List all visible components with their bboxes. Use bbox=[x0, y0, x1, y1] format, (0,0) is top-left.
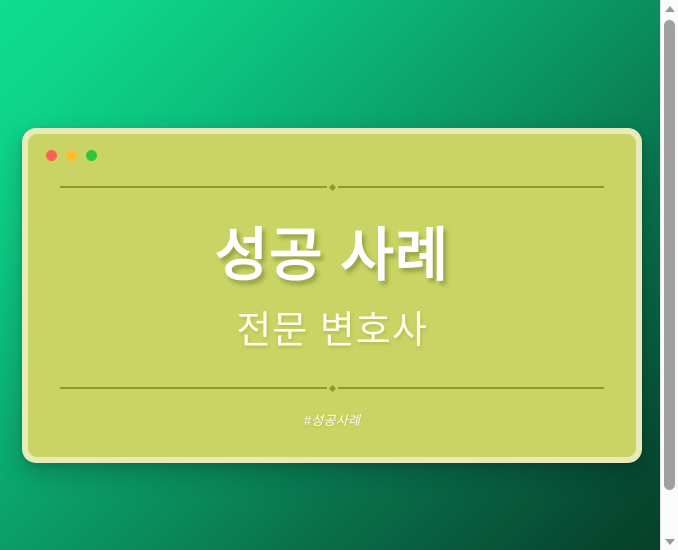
divider-rule-right bbox=[338, 186, 605, 188]
browser-viewport: 성공 사례 전문 변호사 #성공사례 bbox=[0, 0, 678, 550]
card-title: 성공 사례 bbox=[215, 224, 450, 288]
chevron-up-icon bbox=[665, 6, 675, 12]
diamond-icon bbox=[328, 384, 335, 391]
diamond-icon bbox=[328, 183, 335, 190]
page-background: 성공 사례 전문 변호사 #성공사례 bbox=[0, 0, 660, 550]
vertical-scrollbar[interactable] bbox=[660, 0, 678, 550]
divider-rule-right bbox=[338, 387, 605, 389]
slide-card[interactable]: 성공 사례 전문 변호사 #성공사례 bbox=[22, 128, 642, 463]
divider-rule-left bbox=[60, 387, 327, 389]
chevron-down-icon bbox=[665, 539, 675, 545]
card-text-block: 성공 사례 전문 변호사 bbox=[28, 196, 636, 382]
divider-rule-left bbox=[60, 186, 327, 188]
divider-top bbox=[60, 182, 604, 192]
scrollbar-thumb[interactable] bbox=[664, 20, 675, 490]
minimize-icon[interactable] bbox=[66, 150, 77, 161]
scroll-up-button[interactable] bbox=[661, 0, 678, 17]
close-icon[interactable] bbox=[46, 150, 57, 161]
window-controls bbox=[46, 150, 97, 161]
scroll-down-button[interactable] bbox=[661, 533, 678, 550]
slide-card-body: 성공 사례 전문 변호사 #성공사례 bbox=[28, 134, 636, 457]
card-subtitle: 전문 변호사 bbox=[236, 310, 427, 354]
divider-bottom bbox=[60, 383, 604, 393]
card-hashtag: #성공사례 bbox=[28, 410, 636, 429]
maximize-icon[interactable] bbox=[86, 150, 97, 161]
